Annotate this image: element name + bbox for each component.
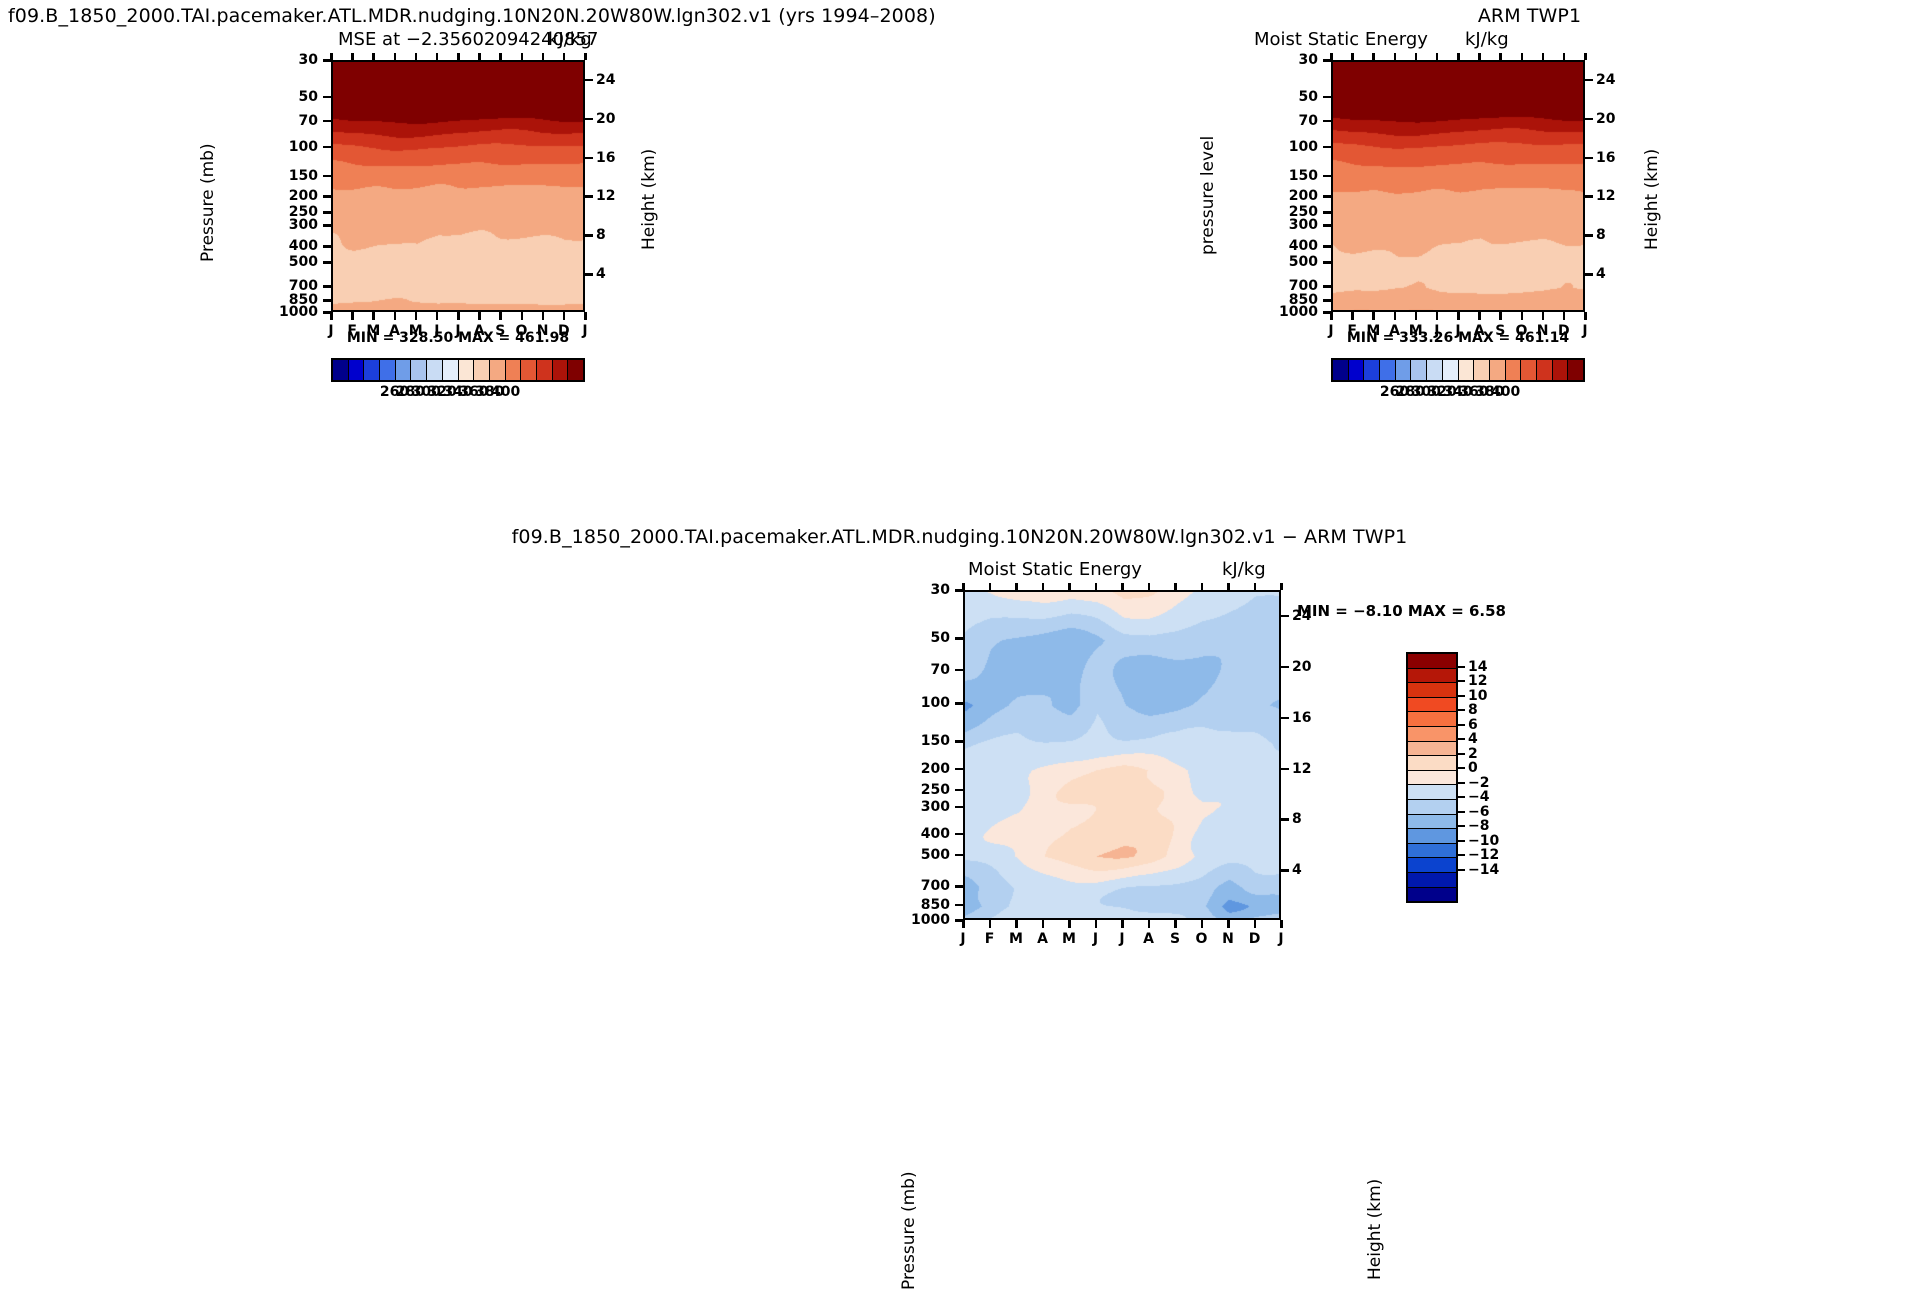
colorbar-swatch xyxy=(459,360,475,380)
colorbar-swatch xyxy=(1408,844,1456,859)
month-tick-label: J xyxy=(953,931,973,947)
pressure-tick xyxy=(323,299,331,302)
top-tick xyxy=(563,53,566,60)
height-tick xyxy=(1281,717,1289,720)
month-tick-label: A xyxy=(1139,931,1159,947)
month-tick xyxy=(1521,312,1524,320)
month-tick-label: F xyxy=(980,931,1000,947)
height-tick xyxy=(1585,79,1593,82)
colorbar-swatch xyxy=(1408,683,1456,698)
height-tick-label: 20 xyxy=(1292,659,1311,675)
colorbar-tick xyxy=(1458,695,1465,697)
month-tick xyxy=(1280,920,1283,928)
month-tick xyxy=(1372,312,1375,320)
colorbar-swatch xyxy=(396,360,412,380)
month-tick-label: J xyxy=(1112,931,1132,947)
top-tick xyxy=(1563,53,1566,60)
colorbar-tick xyxy=(1458,753,1465,755)
pressure-tick-label: 250 xyxy=(905,782,950,798)
colorbar-tick xyxy=(1458,811,1465,813)
colorbar-swatch xyxy=(1408,800,1456,815)
colorbar-tick xyxy=(1458,709,1465,711)
pressure-tick xyxy=(955,854,963,857)
top-tick xyxy=(1394,53,1397,60)
height-tick xyxy=(585,157,593,160)
height-tick-label: 8 xyxy=(1596,227,1606,243)
month-tick-label: M xyxy=(1006,931,1026,947)
colorbar-tick xyxy=(1458,680,1465,682)
height-tick-label: 8 xyxy=(596,227,606,243)
top-tick xyxy=(1330,53,1333,60)
height-tick xyxy=(1585,195,1593,198)
colorbar-swatch xyxy=(474,360,490,380)
obs-title: ARM TWP1 xyxy=(1140,5,1919,27)
height-tick-label: 12 xyxy=(1292,761,1311,777)
top-tick xyxy=(1372,53,1375,60)
month-tick xyxy=(499,312,502,320)
model-plot-area xyxy=(331,60,585,312)
obs-left-axis-label: pressure level xyxy=(1198,136,1218,255)
height-tick xyxy=(1281,615,1289,618)
model-subtitle-units: kJ/kg xyxy=(548,29,592,50)
top-tick xyxy=(1148,583,1151,590)
model-heatmap-canvas xyxy=(333,62,585,312)
pressure-tick-label: 400 xyxy=(905,826,950,842)
month-tick xyxy=(1351,312,1354,320)
diff-title: f09.B_1850_2000.TAI.pacemaker.ATL.MDR.nu… xyxy=(0,526,1919,548)
height-tick xyxy=(1281,768,1289,771)
month-tick xyxy=(1068,920,1071,928)
pressure-tick-label: 70 xyxy=(905,662,950,678)
height-tick xyxy=(585,273,593,276)
colorbar-swatch xyxy=(380,360,396,380)
colorbar-swatch xyxy=(1568,360,1583,380)
obs-heatmap-canvas xyxy=(1333,62,1585,312)
diff-left-axis-label: Pressure (mb) xyxy=(899,1171,919,1290)
pressure-tick xyxy=(1323,120,1331,123)
month-tick xyxy=(1499,312,1502,320)
pressure-tick xyxy=(1323,299,1331,302)
pressure-tick-label: 100 xyxy=(1273,139,1318,155)
obs-right-axis-label: Height (km) xyxy=(1642,149,1662,250)
month-tick xyxy=(1095,920,1098,928)
pressure-tick xyxy=(955,768,963,771)
colorbar-swatch xyxy=(1408,785,1456,800)
month-tick xyxy=(436,312,439,320)
pressure-tick xyxy=(323,175,331,178)
colorbar-tick xyxy=(1458,796,1465,798)
pressure-tick xyxy=(1323,96,1331,99)
colorbar-swatch xyxy=(443,360,459,380)
obs-colorbar xyxy=(1331,358,1585,382)
month-tick xyxy=(1542,312,1545,320)
colorbar-swatch xyxy=(553,360,569,380)
colorbar-swatch xyxy=(506,360,522,380)
month-tick xyxy=(521,312,524,320)
diff-colorbar-labels: 14121086420−2−4−6−8−10−12−14 xyxy=(1458,652,1528,899)
pressure-tick-label: 70 xyxy=(273,113,318,129)
height-tick xyxy=(1281,869,1289,872)
month-tick xyxy=(457,312,460,320)
top-tick xyxy=(989,583,992,590)
month-tick xyxy=(1330,312,1333,320)
colorbar-swatch xyxy=(1408,815,1456,830)
month-tick-label: O xyxy=(1192,931,1212,947)
pressure-tick xyxy=(323,195,331,198)
top-tick xyxy=(1542,53,1545,60)
colorbar-swatch xyxy=(1380,360,1396,380)
pressure-tick xyxy=(1323,224,1331,227)
pressure-tick-label: 500 xyxy=(1273,254,1318,270)
month-tick xyxy=(584,312,587,320)
pressure-tick-label: 150 xyxy=(905,733,950,749)
month-tick xyxy=(1148,920,1151,928)
colorbar-tick-label: 400 xyxy=(491,384,520,400)
colorbar-tick xyxy=(1458,767,1465,769)
height-tick-label: 12 xyxy=(1596,188,1615,204)
colorbar-swatch xyxy=(521,360,537,380)
obs-subtitle-left: Moist Static Energy xyxy=(1254,29,1428,50)
diff-heatmap-canvas xyxy=(965,592,1281,920)
month-tick-label: N xyxy=(1218,931,1238,947)
diff-plot-area xyxy=(963,590,1281,920)
top-tick xyxy=(1121,583,1124,590)
pressure-tick-label: 50 xyxy=(905,630,950,646)
obs-colorbar-labels: 260280300320340360380400 xyxy=(1331,384,1585,402)
pressure-tick xyxy=(955,789,963,792)
month-tick xyxy=(351,312,354,320)
height-tick xyxy=(585,118,593,121)
month-tick-label: M xyxy=(1059,931,1079,947)
month-tick xyxy=(1457,312,1460,320)
colorbar-swatch xyxy=(1408,698,1456,713)
pressure-tick xyxy=(323,211,331,214)
height-tick-label: 16 xyxy=(1596,150,1615,166)
top-tick xyxy=(1478,53,1481,60)
colorbar-tick-label: 400 xyxy=(1491,384,1520,400)
panel-diff: f09.B_1850_2000.TAI.pacemaker.ATL.MDR.nu… xyxy=(0,520,1919,935)
colorbar-swatch xyxy=(1408,888,1456,902)
colorbar-swatch xyxy=(427,360,443,380)
top-tick xyxy=(542,53,545,60)
colorbar-swatch xyxy=(1364,360,1380,380)
pressure-tick xyxy=(323,285,331,288)
pressure-tick-label: 150 xyxy=(1273,168,1318,184)
colorbar-swatch xyxy=(1408,654,1456,669)
model-left-axis-label: Pressure (mb) xyxy=(198,143,218,262)
height-tick-label: 4 xyxy=(596,266,606,282)
pressure-tick xyxy=(955,740,963,743)
month-tick-label: J xyxy=(1086,931,1106,947)
top-tick xyxy=(1436,53,1439,60)
colorbar-swatch xyxy=(1490,360,1506,380)
height-tick-label: 4 xyxy=(1596,266,1606,282)
pressure-tick xyxy=(323,245,331,248)
colorbar-tick xyxy=(1458,854,1465,856)
pressure-tick-label: 850 xyxy=(905,897,950,913)
pressure-tick-label: 50 xyxy=(273,89,318,105)
top-tick xyxy=(457,53,460,60)
obs-plot-area xyxy=(1331,60,1585,312)
pressure-tick-label: 30 xyxy=(273,52,318,68)
month-tick xyxy=(1174,920,1177,928)
pressure-tick xyxy=(1323,261,1331,264)
top-tick xyxy=(962,583,965,590)
top-tick xyxy=(330,53,333,60)
pressure-tick-label: 200 xyxy=(1273,188,1318,204)
month-tick xyxy=(1584,312,1587,320)
top-tick xyxy=(1201,583,1204,590)
pressure-tick-label: 400 xyxy=(1273,238,1318,254)
month-tick xyxy=(330,312,333,320)
colorbar-swatch xyxy=(1408,712,1456,727)
top-tick xyxy=(1015,583,1018,590)
top-tick xyxy=(351,53,354,60)
pressure-tick-label: 30 xyxy=(1273,52,1318,68)
height-tick-label: 16 xyxy=(1292,710,1311,726)
colorbar-swatch xyxy=(364,360,380,380)
obs-subtitle-right: kJ/kg xyxy=(1465,29,1509,50)
pressure-tick xyxy=(955,806,963,809)
height-tick-label: 20 xyxy=(596,111,615,127)
obs-stats: MIN = 333.26 MAX = 461.14 xyxy=(1331,330,1585,346)
colorbar-swatch xyxy=(1408,873,1456,888)
top-tick xyxy=(478,53,481,60)
pressure-tick-label: 50 xyxy=(1273,89,1318,105)
height-tick-label: 16 xyxy=(596,150,615,166)
diff-subtitle-left: Moist Static Energy xyxy=(968,559,1142,580)
height-tick xyxy=(1585,118,1593,121)
colorbar-tick-label: −14 xyxy=(1468,862,1499,878)
top-tick xyxy=(1042,583,1045,590)
height-tick xyxy=(1281,818,1289,821)
top-tick xyxy=(1584,53,1587,60)
colorbar-swatch xyxy=(333,360,349,380)
month-tick xyxy=(962,920,965,928)
colorbar-swatch xyxy=(1521,360,1537,380)
pressure-tick-label: 500 xyxy=(273,254,318,270)
top-tick xyxy=(372,53,375,60)
pressure-tick xyxy=(1323,175,1331,178)
colorbar-swatch xyxy=(1408,858,1456,873)
colorbar-tick xyxy=(1458,825,1465,827)
top-tick xyxy=(1227,583,1230,590)
top-tick xyxy=(1174,583,1177,590)
month-tick xyxy=(1227,920,1230,928)
month-tick-label: D xyxy=(1245,931,1265,947)
top-tick xyxy=(1457,53,1460,60)
month-tick xyxy=(415,312,418,320)
model-colorbar xyxy=(331,358,585,382)
pressure-tick xyxy=(955,885,963,888)
colorbar-tick xyxy=(1458,782,1465,784)
colorbar-swatch xyxy=(1349,360,1365,380)
top-tick xyxy=(1068,583,1071,590)
top-tick xyxy=(436,53,439,60)
pressure-tick xyxy=(323,224,331,227)
colorbar-swatch xyxy=(349,360,365,380)
top-tick xyxy=(1415,53,1418,60)
height-tick xyxy=(585,79,593,82)
colorbar-tick xyxy=(1458,840,1465,842)
pressure-tick xyxy=(955,669,963,672)
pressure-tick xyxy=(1323,245,1331,248)
pressure-tick-label: 100 xyxy=(273,139,318,155)
top-tick xyxy=(1351,53,1354,60)
height-tick xyxy=(585,234,593,237)
pressure-tick xyxy=(1323,211,1331,214)
pressure-tick-label: 700 xyxy=(905,878,950,894)
colorbar-swatch xyxy=(1411,360,1427,380)
top-tick xyxy=(1254,583,1257,590)
colorbar-swatch xyxy=(1553,360,1569,380)
pressure-tick-label: 500 xyxy=(905,847,950,863)
colorbar-swatch xyxy=(1474,360,1490,380)
top-tick xyxy=(1095,583,1098,590)
pressure-tick-label: 100 xyxy=(905,695,950,711)
colorbar-swatch xyxy=(1459,360,1475,380)
month-tick-label: J xyxy=(1271,931,1291,947)
model-colorbar-labels: 260280300320340360380400 xyxy=(331,384,585,402)
colorbar-tick xyxy=(1458,869,1465,871)
model-right-axis-label: Height (km) xyxy=(639,149,659,250)
month-tick xyxy=(1394,312,1397,320)
colorbar-swatch xyxy=(1408,669,1456,684)
pressure-tick xyxy=(323,96,331,99)
month-tick xyxy=(1015,920,1018,928)
pressure-tick-label: 400 xyxy=(273,238,318,254)
colorbar-swatch xyxy=(1537,360,1553,380)
top-tick xyxy=(521,53,524,60)
height-tick-label: 24 xyxy=(596,72,615,88)
colorbar-swatch xyxy=(411,360,427,380)
model-stats: MIN = 328.50 MAX = 461.98 xyxy=(331,330,585,346)
pressure-tick xyxy=(323,146,331,149)
pressure-tick-label: 1000 xyxy=(1273,304,1318,320)
pressure-tick xyxy=(955,702,963,705)
month-tick xyxy=(372,312,375,320)
pressure-tick xyxy=(955,833,963,836)
pressure-tick-label: 1000 xyxy=(905,912,950,928)
colorbar-swatch xyxy=(1443,360,1459,380)
pressure-tick-label: 300 xyxy=(273,217,318,233)
month-tick xyxy=(1201,920,1204,928)
top-tick xyxy=(499,53,502,60)
colorbar-tick xyxy=(1458,724,1465,726)
month-tick xyxy=(1415,312,1418,320)
top-tick xyxy=(1280,583,1283,590)
colorbar-swatch xyxy=(1396,360,1412,380)
height-tick xyxy=(585,195,593,198)
month-tick xyxy=(478,312,481,320)
pressure-tick xyxy=(1323,195,1331,198)
colorbar-swatch xyxy=(1506,360,1522,380)
model-title: f09.B_1850_2000.TAI.pacemaker.ATL.MDR.nu… xyxy=(8,5,936,27)
month-tick xyxy=(1563,312,1566,320)
month-tick xyxy=(1254,920,1257,928)
colorbar-swatch xyxy=(490,360,506,380)
month-tick xyxy=(394,312,397,320)
height-tick xyxy=(1585,234,1593,237)
month-tick xyxy=(1121,920,1124,928)
pressure-tick-label: 30 xyxy=(905,582,950,598)
diff-colorbar xyxy=(1406,652,1458,903)
top-tick xyxy=(394,53,397,60)
height-tick xyxy=(1585,157,1593,160)
month-tick xyxy=(989,920,992,928)
diff-subtitle-right: kJ/kg xyxy=(1222,559,1266,580)
colorbar-swatch xyxy=(537,360,553,380)
colorbar-swatch xyxy=(1333,360,1349,380)
colorbar-tick xyxy=(1458,738,1465,740)
colorbar-swatch xyxy=(1408,727,1456,742)
height-tick-label: 20 xyxy=(1596,111,1615,127)
pressure-tick-label: 1000 xyxy=(273,304,318,320)
height-tick-label: 24 xyxy=(1596,72,1615,88)
diff-stats: MIN = −8.10 MAX = 6.58 xyxy=(1297,602,1506,620)
top-tick xyxy=(1499,53,1502,60)
pressure-tick xyxy=(323,261,331,264)
month-tick xyxy=(1436,312,1439,320)
month-tick xyxy=(1478,312,1481,320)
month-tick xyxy=(1042,920,1045,928)
height-tick xyxy=(1281,666,1289,669)
height-tick-label: 12 xyxy=(596,188,615,204)
colorbar-swatch xyxy=(1408,742,1456,757)
panel-model: f09.B_1850_2000.TAI.pacemaker.ATL.MDR.nu… xyxy=(0,0,780,500)
height-tick-label: 4 xyxy=(1292,862,1302,878)
top-tick xyxy=(584,53,587,60)
month-tick xyxy=(563,312,566,320)
pressure-tick xyxy=(1323,146,1331,149)
top-tick xyxy=(1521,53,1524,60)
colorbar-swatch xyxy=(1408,756,1456,771)
pressure-tick xyxy=(1323,285,1331,288)
colorbar-swatch xyxy=(1408,771,1456,786)
height-tick xyxy=(1585,273,1593,276)
height-tick-label: 8 xyxy=(1292,811,1302,827)
top-tick xyxy=(415,53,418,60)
diff-right-axis-label: Height (km) xyxy=(1365,1179,1385,1280)
colorbar-swatch xyxy=(1408,829,1456,844)
pressure-tick-label: 150 xyxy=(273,168,318,184)
colorbar-swatch xyxy=(568,360,583,380)
pressure-tick-label: 200 xyxy=(905,761,950,777)
month-tick-label: A xyxy=(1033,931,1053,947)
pressure-tick-label: 300 xyxy=(905,799,950,815)
pressure-tick xyxy=(323,120,331,123)
panel-obs: ARM TWP1 Moist Static Energy kJ/kg press… xyxy=(1140,0,1919,500)
month-tick-label: S xyxy=(1165,931,1185,947)
pressure-tick xyxy=(955,904,963,907)
pressure-tick-label: 200 xyxy=(273,188,318,204)
pressure-tick xyxy=(955,637,963,640)
pressure-tick-label: 300 xyxy=(1273,217,1318,233)
pressure-tick-label: 70 xyxy=(1273,113,1318,129)
colorbar-swatch xyxy=(1427,360,1443,380)
colorbar-tick xyxy=(1458,666,1465,668)
month-tick xyxy=(542,312,545,320)
